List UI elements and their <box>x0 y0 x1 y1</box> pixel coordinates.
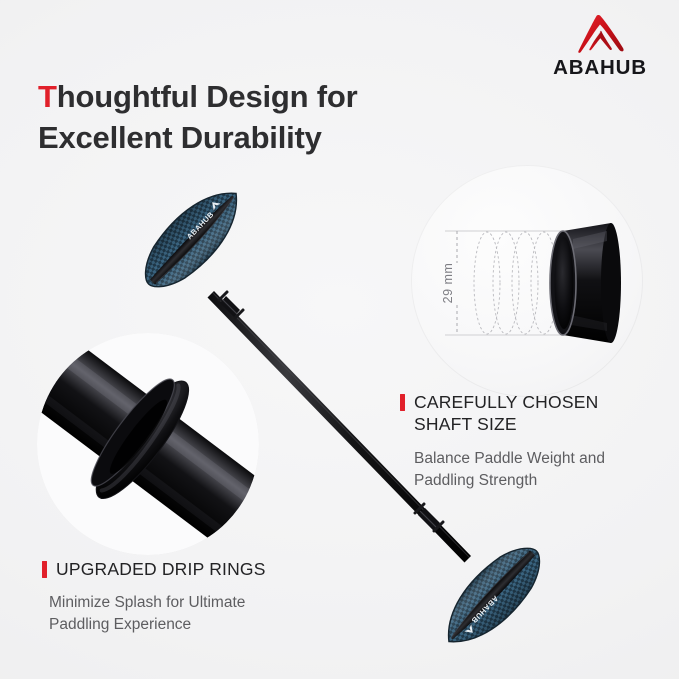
blade-logo: ABAHUB <box>183 199 225 241</box>
product-feature-image: ABAHUB Thoughtful Design forExcellent Du… <box>0 0 679 679</box>
callout-shaft-title-line2: SHAFT SIZE <box>414 414 517 434</box>
paddle-blade-top: ABAHUB <box>131 176 255 301</box>
red-accent-bar-icon <box>42 561 47 578</box>
svg-text:ABAHUB: ABAHUB <box>469 594 500 625</box>
shaft-dimension-label: 29 mm <box>441 263 455 304</box>
abahub-swoosh-icon <box>569 14 631 56</box>
callout-shaft-title: CAREFULLY CHOSENSHAFT SIZE <box>414 391 598 436</box>
callout-drip-title: UPGRADED DRIP RINGS <box>56 558 266 580</box>
paddle-blade-bottom: ABAHUB <box>431 534 555 659</box>
paddle-ferrule-lower <box>415 504 443 531</box>
callout-drip-subtitle-line1: Minimize Splash for Ultimate <box>49 594 245 611</box>
callout-shaft-subtitle: Balance Paddle Weight andPaddling Streng… <box>414 448 662 492</box>
coil-ellipses <box>474 232 557 334</box>
headline-line2: Excellent Durability <box>38 120 322 155</box>
callout-drip-subtitle: Minimize Splash for UltimatePaddling Exp… <box>49 592 342 636</box>
callout-drip-subtitle-line2: Paddling Experience <box>49 616 191 633</box>
drip-ring-closeup <box>37 333 259 555</box>
drip-ring-circle <box>37 333 259 555</box>
svg-text:ABAHUB: ABAHUB <box>185 210 216 241</box>
callout-shaft-size: CAREFULLY CHOSENSHAFT SIZE Balance Paddl… <box>400 391 662 492</box>
paddle-ferrule-upper <box>219 292 243 318</box>
callout-shaft-subtitle-line1: Balance Paddle Weight and <box>414 450 605 467</box>
callout-shaft-heading: CAREFULLY CHOSENSHAFT SIZE <box>400 391 662 436</box>
shaft-tube <box>550 223 621 343</box>
brand-logo: ABAHUB <box>536 14 664 88</box>
blade-logo: ABAHUB <box>461 594 503 636</box>
shaft-cross-section-diagram: 29 mm <box>411 165 643 397</box>
callout-shaft-title-line1: CAREFULLY CHOSEN <box>414 392 598 412</box>
headline-accent-letter: T <box>38 79 57 114</box>
red-accent-bar-icon <box>400 394 405 411</box>
headline-line1: houghtful Design for <box>57 79 358 114</box>
brand-wordmark: ABAHUB <box>553 58 647 79</box>
shaft-size-circle: 29 mm <box>411 165 643 397</box>
callout-shaft-subtitle-line2: Paddling Strength <box>414 472 537 489</box>
callout-drip-heading: UPGRADED DRIP RINGS <box>42 558 342 580</box>
drip-ring-photo <box>37 333 259 555</box>
callout-drip-rings: UPGRADED DRIP RINGS Minimize Splash for … <box>42 558 342 636</box>
page-title: Thoughtful Design forExcellent Durabilit… <box>38 77 488 159</box>
